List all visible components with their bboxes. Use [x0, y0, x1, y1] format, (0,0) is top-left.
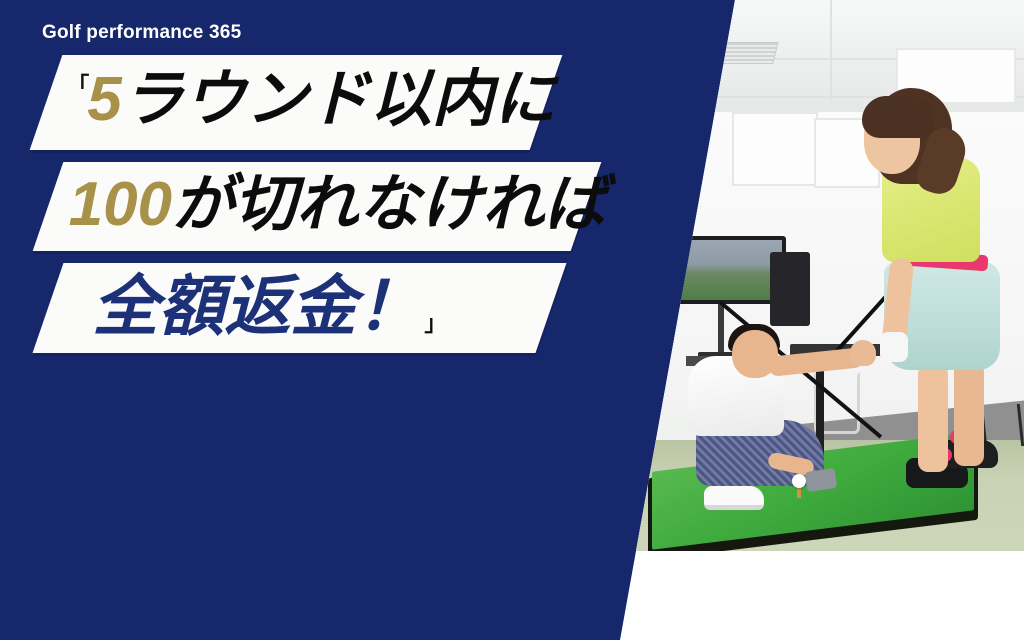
headline-banner-1: 「 5 ラウンド以内に: [30, 55, 563, 150]
monitor-stand: [718, 300, 724, 356]
advertisement-banner: Golf performance 365 「 5 ラウンド以内に 100 が切れ…: [0, 0, 1024, 640]
coach-shoe: [704, 486, 764, 510]
golf-club-head: [805, 468, 837, 492]
headline-number-100: 100: [69, 174, 172, 236]
golfer-glove: [880, 332, 908, 362]
close-quote-mark: 」: [424, 313, 446, 335]
window-center: [732, 112, 818, 186]
headline-banner-3: 全額返金！ 」: [33, 263, 567, 353]
golfer-hair-front: [862, 96, 934, 138]
headline-text-3: 全額返金！: [92, 273, 422, 339]
coach-hand: [850, 340, 876, 366]
headline-text-1: ラウンド以内に: [122, 69, 556, 131]
golf-ball: [792, 474, 806, 488]
headline-text-2: が切れなければ: [172, 174, 606, 236]
open-quote-mark: 「: [67, 75, 89, 97]
golfer-leg-front: [918, 364, 948, 472]
golfer-leg-back: [954, 362, 984, 466]
headline-banner-2: 100 が切れなければ: [33, 162, 602, 251]
ceiling-grid-line-2: [830, 0, 832, 100]
secondary-monitor: [770, 252, 810, 326]
brand-logo-text: Golf performance 365: [42, 22, 241, 44]
headline-number-5: 5: [87, 69, 121, 131]
